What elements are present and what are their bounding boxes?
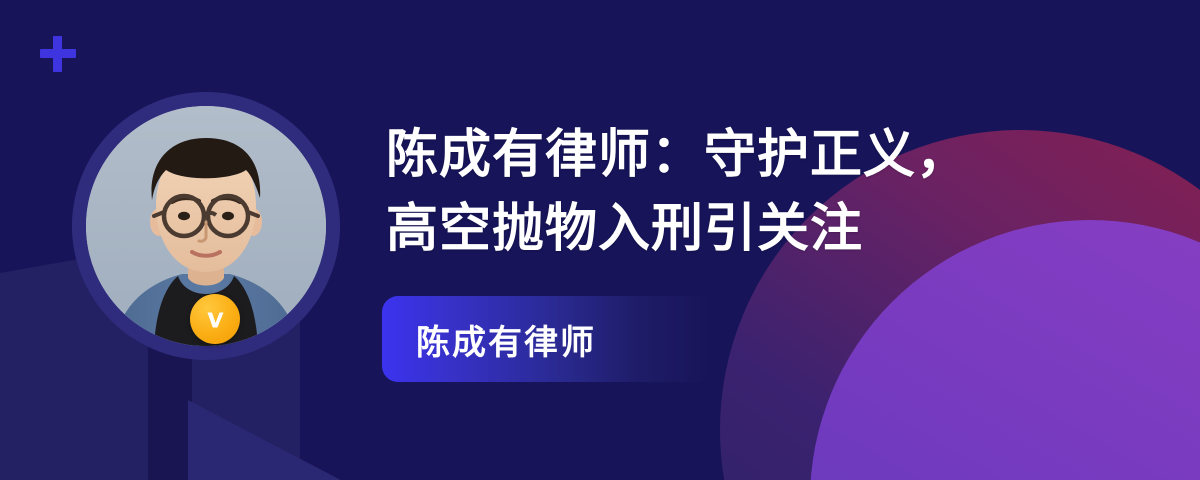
headline-line-1: 陈成有律师：守护正义， [386,118,1106,192]
verified-badge-icon [190,294,240,344]
page-title: 陈成有律师：守护正义， 高空抛物入刑引关注 [386,118,1106,266]
author-chip-label: 陈成有律师 [416,315,596,364]
banner-content: 陈成有律师：守护正义， 高空抛物入刑引关注 陈成有律师 [386,118,1106,266]
author-chip[interactable]: 陈成有律师 [382,296,714,382]
plus-icon [40,36,76,72]
headline-line-2: 高空抛物入刑引关注 [386,192,1106,266]
profile-banner: 陈成有律师：守护正义， 高空抛物入刑引关注 陈成有律师 [0,0,1200,480]
